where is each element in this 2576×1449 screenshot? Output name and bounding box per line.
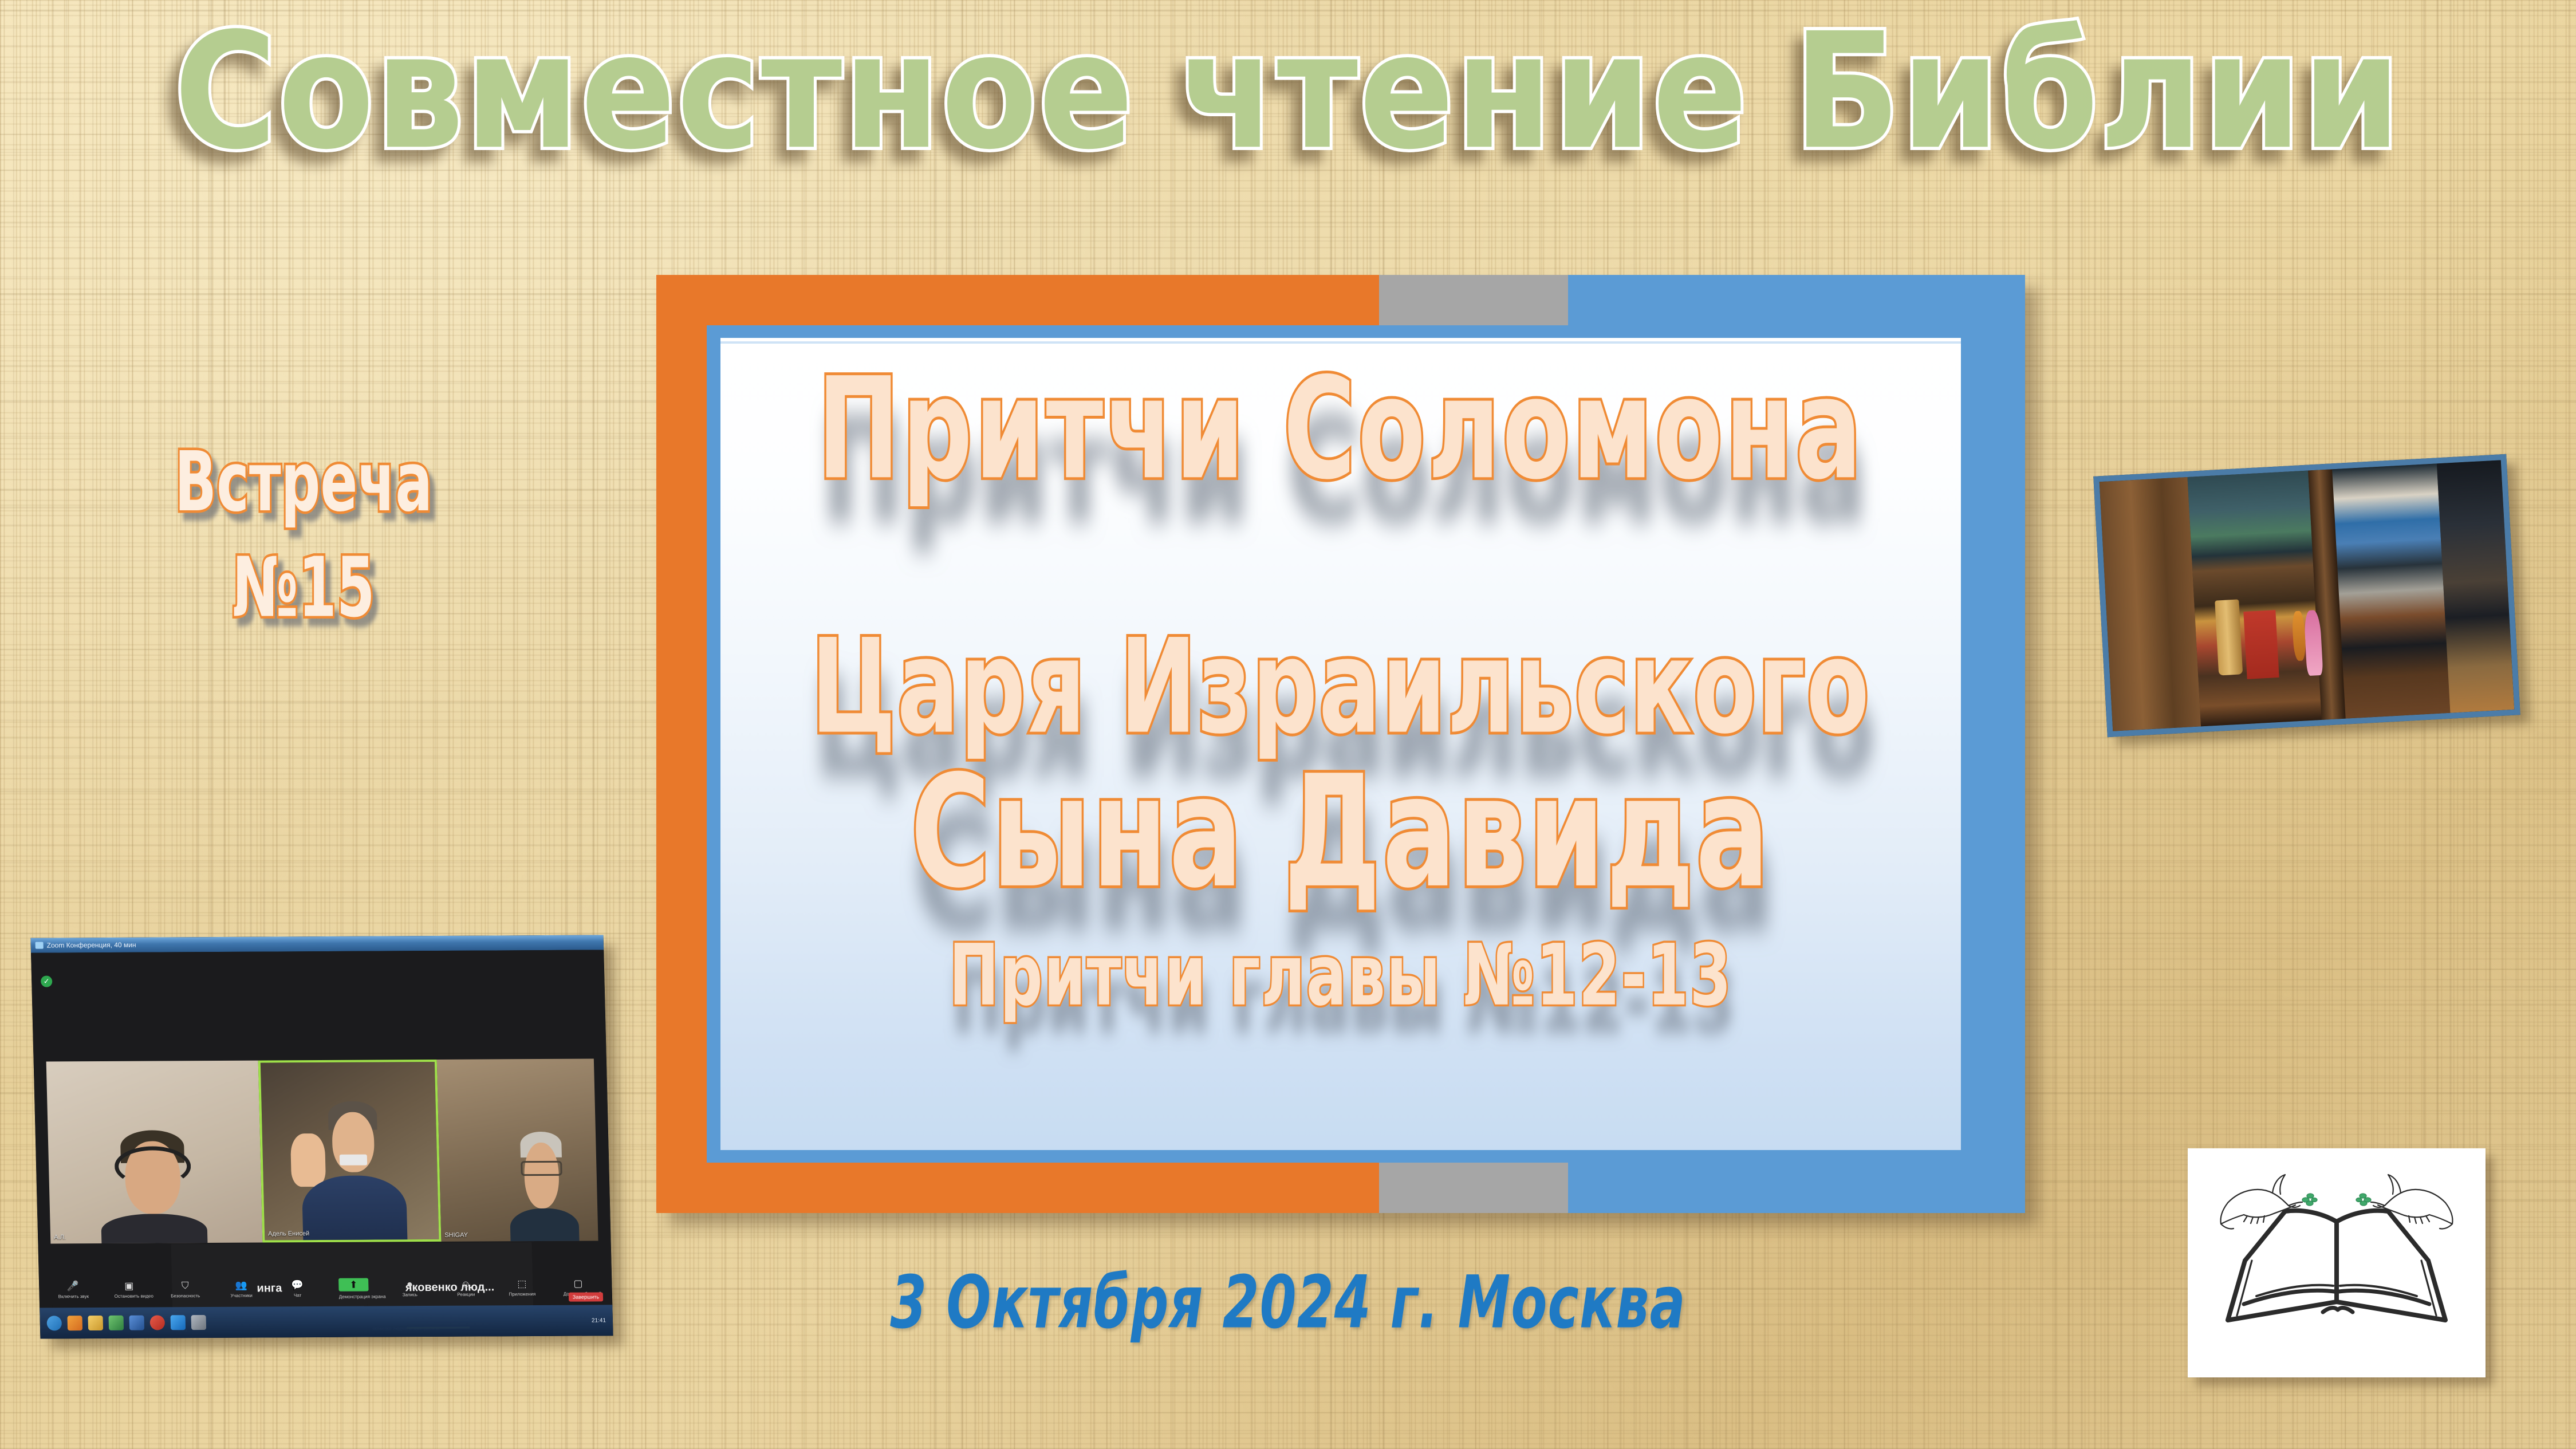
apps-caption: Приложения [507, 1291, 537, 1296]
zoom-toolbar-mic[interactable]: 🎤 Включить звук [58, 1281, 88, 1299]
open-book-with-doves-graphic [2188, 1148, 2486, 1377]
title-frame: Притчи Соломона Царя Израильского Сына Д… [656, 275, 2025, 1213]
reactions-icon: ☺ [451, 1279, 480, 1289]
moustache-shape [340, 1155, 368, 1165]
share-caption: Демонстрация экрана [339, 1294, 369, 1299]
avatar-torso-3 [510, 1208, 580, 1241]
participant-tile-1[interactable]: А.Л. [46, 1061, 263, 1244]
zoom-toolbar-security[interactable]: ⛉ Безопасность [170, 1281, 200, 1298]
participant-name-2: Адель Енисей [268, 1230, 309, 1237]
zoom-body: А.Л. Адель Енисей SHIGAY инга [31, 950, 613, 1338]
taskbar-browser-icon[interactable] [67, 1316, 82, 1330]
frame-left-border [656, 275, 707, 1213]
panel-subheading-chapter: Притчи главы №12-13 [720, 926, 1961, 1025]
participant-name-3: SHIGAY [444, 1232, 468, 1239]
zoom-titlebar-text: Zoom Конференция, 40 мин [47, 941, 136, 950]
panel-heading-proverbs: Притчи Соломона [720, 347, 1961, 510]
frame-right-border [1975, 275, 2025, 1213]
participant-name-1: А.Л. [54, 1234, 66, 1241]
participant-tile-2[interactable]: Адель Енисей [258, 1060, 442, 1243]
taskbar-chrome-icon[interactable] [150, 1315, 166, 1330]
frame-bottom-blue-segment [1568, 1163, 2025, 1213]
share-screen-icon: ⬆ [338, 1278, 369, 1291]
olive-branch-left-icon [2302, 1194, 2317, 1206]
dove-left-icon [2221, 1175, 2303, 1229]
taskbar-zoom-icon[interactable] [171, 1315, 186, 1330]
frame-top-blue-segment [1568, 275, 2025, 325]
participants-caption: Участники [227, 1293, 257, 1298]
participant-tile-row: А.Л. Адель Енисей SHIGAY [46, 1059, 598, 1244]
glasses-icon [521, 1161, 562, 1176]
cabinet-panel-left [2100, 477, 2201, 731]
title-panel: Притчи Соломона Царя Израильского Сына Д… [720, 338, 1961, 1150]
shelf-section-2 [2332, 463, 2450, 718]
frame-inner-blue-mat: Притчи Соломона Царя Израильского Сына Д… [707, 325, 1975, 1163]
frame-bottom-bar [656, 1163, 2025, 1213]
zoom-meeting-screenshot[interactable]: Zoom Конференция, 40 мин А.Л. Адель Енис… [30, 935, 613, 1338]
security-caption: Безопасность [171, 1293, 200, 1298]
taskbar-word-icon[interactable] [129, 1316, 145, 1330]
leave-meeting-button[interactable]: Завершить [569, 1292, 604, 1301]
zoom-toolbar-share[interactable]: ⬆ Демонстрация экрана [338, 1278, 369, 1299]
frame-top-orange-segment [656, 275, 1379, 325]
camera-caption: Остановить видео [115, 1293, 144, 1298]
windows-taskbar: 21:41 [40, 1305, 613, 1338]
taskbar-misc-icon[interactable] [191, 1315, 207, 1330]
mic-caption: Включить звук [58, 1294, 88, 1299]
taskbar-start-icon[interactable] [46, 1316, 62, 1330]
wooden-jug-object [2215, 599, 2243, 675]
open-book-icon [2228, 1211, 2445, 1320]
participant-tile-3[interactable]: SHIGAY [437, 1059, 598, 1242]
meeting-badge: Встреча №15 [109, 430, 498, 641]
taskbar-media-icon[interactable] [109, 1316, 124, 1330]
raised-hand-shape [290, 1133, 326, 1187]
taskbar-clock: 21:41 [592, 1317, 606, 1324]
zoom-toolbar-reactions[interactable]: ☺ Реакции [451, 1279, 481, 1297]
panel-heading-son: Сына Давида [720, 742, 1961, 922]
taskbar-explorer-icon[interactable] [88, 1316, 104, 1330]
microphone-icon: 🎤 [58, 1281, 88, 1291]
zoom-app-icon [36, 942, 44, 949]
bookshelf-photo [2093, 454, 2520, 737]
shelf-section-3 [2437, 460, 2515, 712]
zoom-toolbar-camera[interactable]: ▣ Остановить видео [114, 1281, 144, 1298]
meeting-label: Встреча [109, 430, 498, 535]
olive-branch-right-icon [2356, 1194, 2371, 1206]
panel-heading-king: Царя Израильского [720, 611, 1961, 763]
frame-top-gray-segment [1379, 275, 1568, 325]
reactions-caption: Реакции [451, 1291, 481, 1297]
zoom-toolbar-participants[interactable]: 👥 Участники [226, 1280, 257, 1298]
record-icon: ⏺ [395, 1279, 424, 1289]
participants-icon: 👥 [226, 1280, 256, 1290]
whiteboard-icon: ▢ [563, 1278, 593, 1288]
chat-caption: Чат [283, 1293, 313, 1298]
apps-icon: ⬚ [507, 1278, 537, 1288]
dove-right-icon [2371, 1175, 2453, 1229]
frame-bottom-gray-segment [1379, 1163, 1568, 1213]
page-title: СовместноечтениеБиблии [0, 13, 2576, 172]
zoom-toolbar-record[interactable]: ⏺ Запись [395, 1279, 425, 1297]
meeting-number: №15 [109, 535, 498, 640]
shield-icon: ⛉ [170, 1281, 200, 1290]
red-book-object [2243, 610, 2279, 679]
zoom-toolbar-apps[interactable]: ⬚ Приложения [507, 1278, 537, 1296]
title-word-2: чтение [1180, 13, 1749, 172]
zoom-toolbar: 🎤 Включить звук ▣ Остановить видео ⛉ Без… [39, 1269, 613, 1308]
zoom-toolbar-chat[interactable]: 💬 Чат [282, 1280, 313, 1298]
shelf-section-1 [2188, 471, 2322, 727]
avatar-torso [101, 1214, 208, 1243]
frame-top-bar [656, 275, 2025, 325]
frame-bottom-orange-segment [656, 1163, 1379, 1213]
chat-icon: 💬 [282, 1280, 312, 1290]
title-word-1: Совместное [174, 13, 1135, 172]
camera-icon: ▣ [114, 1281, 144, 1290]
avatar-torso-2 [302, 1176, 408, 1243]
recording-status-icon [41, 976, 52, 987]
record-caption: Запись [395, 1292, 425, 1297]
title-word-3: Библии [1794, 13, 2402, 172]
bookshelf-photo-content [2100, 460, 2515, 731]
book-doves-svg [2188, 1148, 2486, 1377]
